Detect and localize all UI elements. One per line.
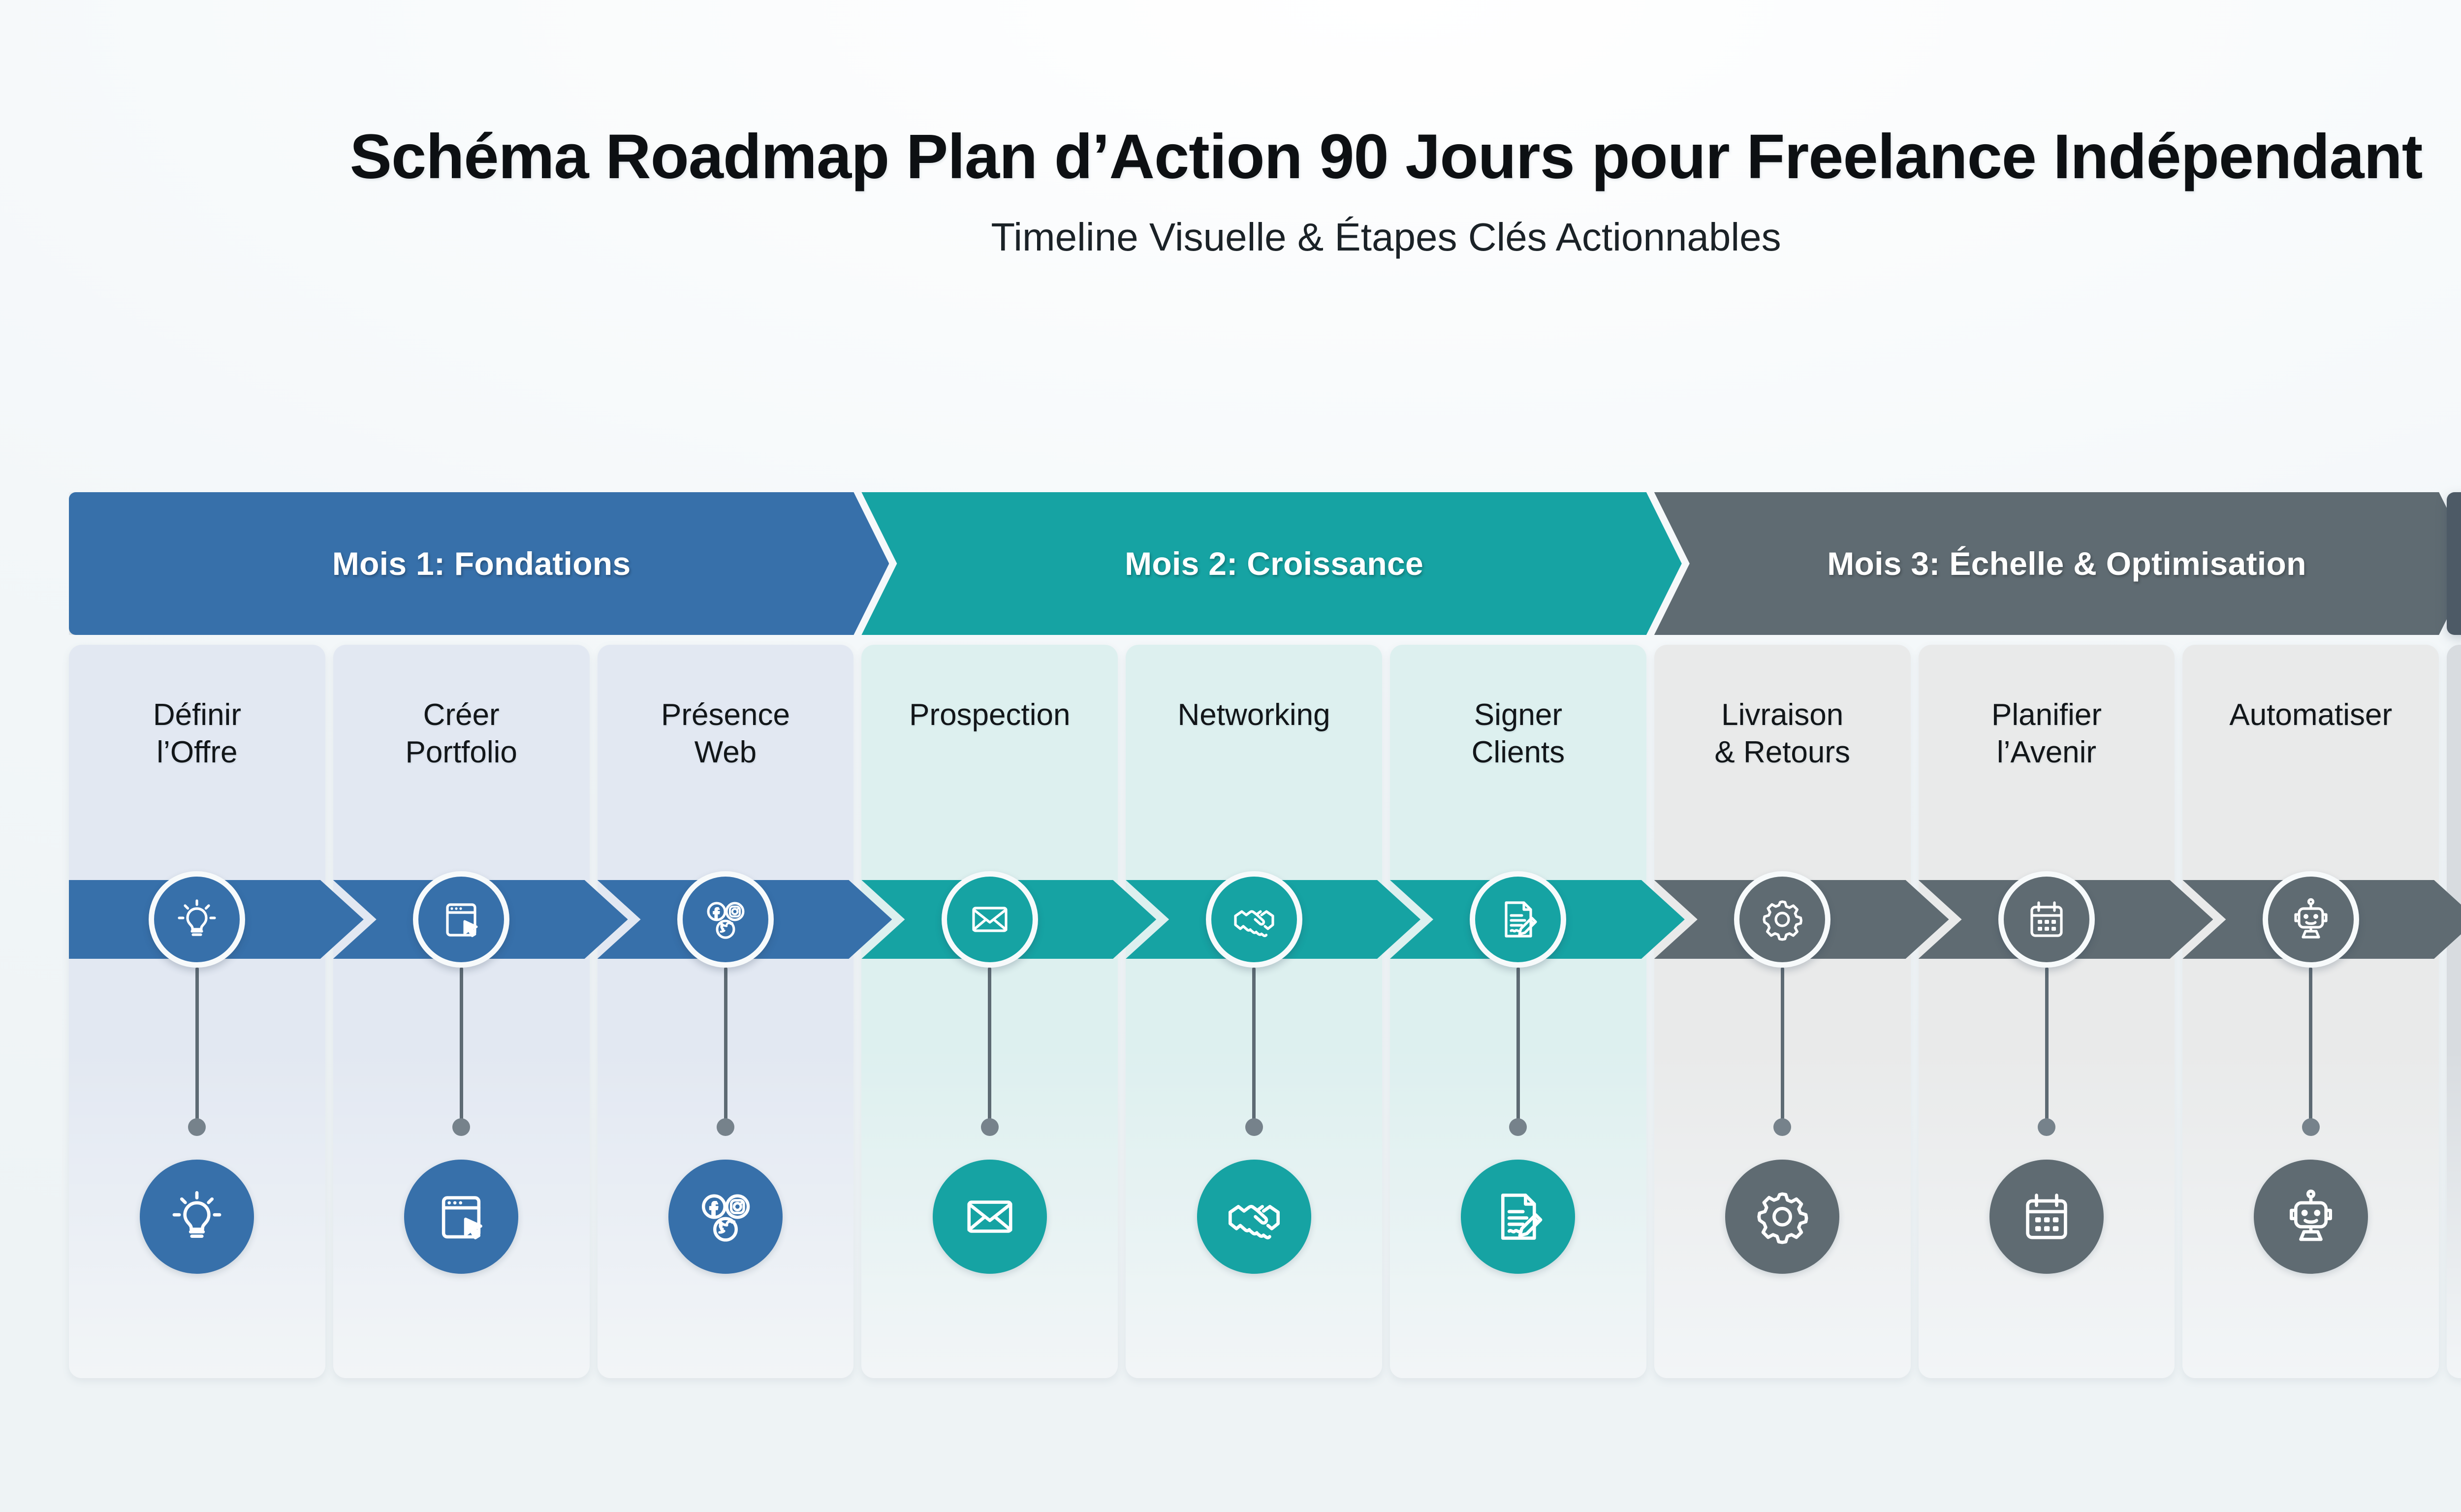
step-badge-contract-pen-icon[interactable] — [1470, 871, 1566, 968]
step-badge-gear-icon[interactable] — [1734, 871, 1830, 968]
connector-dot — [452, 1118, 470, 1136]
step-icon-browser-cursor-icon[interactable] — [404, 1160, 518, 1274]
step-badge-calendar-icon[interactable] — [1998, 871, 2095, 968]
connector-line — [1781, 967, 1784, 1127]
phase-banner-mois-2[interactable]: Mois 2: Croissance — [861, 492, 1681, 635]
connector-line — [2045, 967, 2049, 1127]
connector-dot — [1245, 1118, 1263, 1136]
step-badge-browser-cursor-icon[interactable] — [413, 871, 509, 968]
step-marker-layer — [69, 645, 2461, 1378]
phase-banner-label: Mois 3: Échelle & Optimisation — [1822, 545, 2306, 582]
connector-dot — [2038, 1118, 2055, 1136]
step-badge-envelope-icon[interactable] — [942, 871, 1038, 968]
connector-dot — [981, 1118, 999, 1136]
phase-banner-label: Mois 2: Croissance — [1120, 545, 1423, 582]
step-icon-social-media-icon[interactable] — [668, 1160, 783, 1274]
roadmap-board: Mois 1: FondationsMois 2: CroissanceMois… — [69, 492, 2461, 1378]
step-icon-contract-pen-icon[interactable] — [1461, 1160, 1575, 1274]
connector-dot — [2302, 1118, 2320, 1136]
step-icon-envelope-icon[interactable] — [933, 1160, 1047, 1274]
step-icon-lightbulb-icon[interactable] — [140, 1160, 254, 1274]
step-icon-gear-icon[interactable] — [1725, 1160, 1839, 1274]
connector-dot — [1773, 1118, 1791, 1136]
connector-line — [460, 967, 463, 1127]
phase-banner-label: Mois 1: Fondations — [327, 545, 631, 582]
connector-dot — [1509, 1118, 1527, 1136]
page-header: Schéma Roadmap Plan d’Action 90 Jours po… — [0, 0, 2461, 259]
connector-line — [1516, 967, 1520, 1127]
step-icon-robot-icon[interactable] — [2254, 1160, 2368, 1274]
connector-line — [1252, 967, 1256, 1127]
connector-line — [988, 967, 991, 1127]
connector-dot — [188, 1118, 206, 1136]
step-badge-lightbulb-icon[interactable] — [149, 871, 245, 968]
phase-banner-resultat[interactable]: Résultat — [2447, 492, 2461, 635]
connector-line — [724, 967, 727, 1127]
step-icon-handshake-icon[interactable] — [1197, 1160, 1311, 1274]
step-badge-handshake-icon[interactable] — [1206, 871, 1302, 968]
step-badge-robot-icon[interactable] — [2263, 871, 2359, 968]
phase-banner-mois-3[interactable]: Mois 3: Échelle & Optimisation — [1654, 492, 2461, 635]
connector-line — [2309, 967, 2312, 1127]
connector-dot — [717, 1118, 734, 1136]
phase-banner-mois-1[interactable]: Mois 1: Fondations — [69, 492, 889, 635]
page-title: Schéma Roadmap Plan d’Action 90 Jours po… — [0, 123, 2461, 191]
step-icon-calendar-icon[interactable] — [1989, 1160, 2104, 1274]
phase-banner-row: Mois 1: FondationsMois 2: CroissanceMois… — [69, 492, 2461, 635]
step-badge-social-media-icon[interactable] — [677, 871, 774, 968]
connector-line — [195, 967, 199, 1127]
page-subtitle: Timeline Visuelle & Étapes Clés Actionna… — [0, 216, 2461, 259]
